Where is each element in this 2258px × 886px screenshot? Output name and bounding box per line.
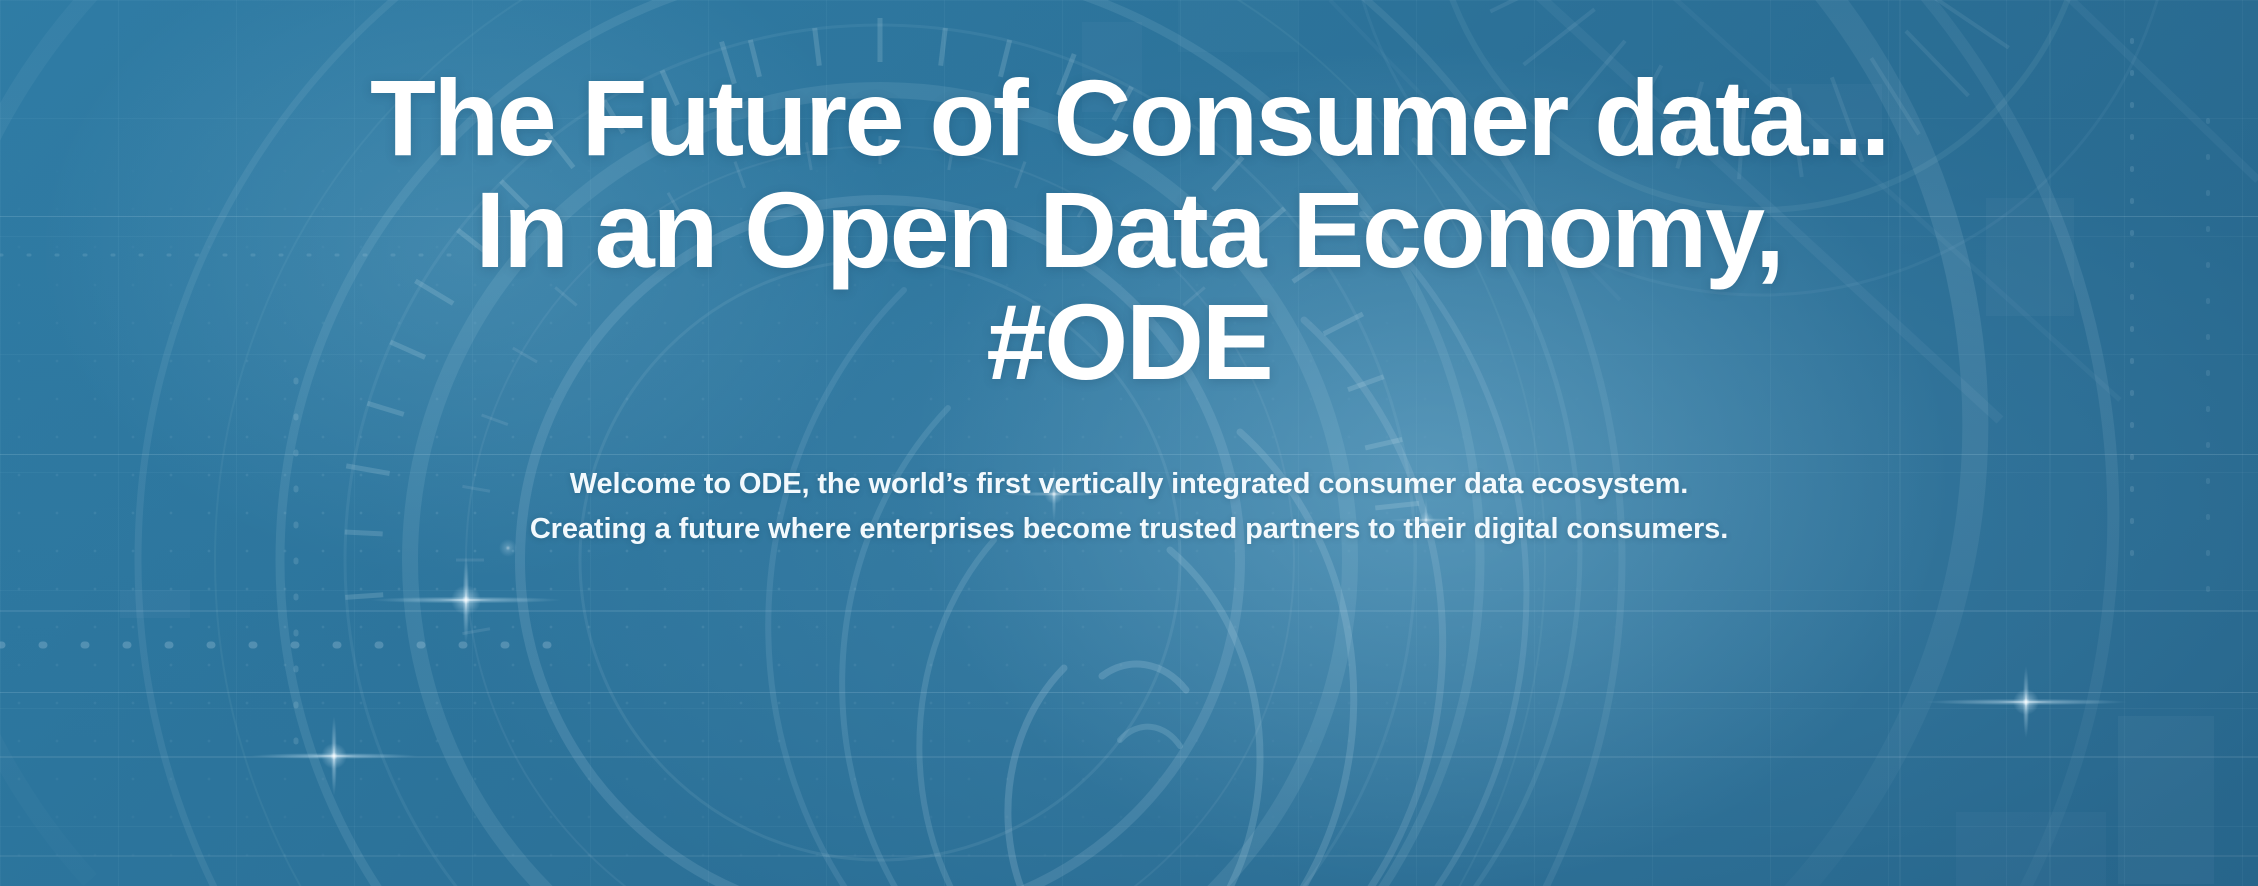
hero-content: The Future of Consumer data... In an Ope…: [0, 0, 2258, 552]
headline-line-1: The Future of Consumer data...: [24, 62, 2234, 174]
headline-line-3: #ODE: [24, 286, 2234, 398]
hero-subcopy: Welcome to ODE, the world’s first vertic…: [529, 462, 1729, 552]
headline-line-2: In an Open Data Economy,: [24, 174, 2234, 286]
hero-headline: The Future of Consumer data... In an Ope…: [0, 62, 2258, 398]
hero-banner: The Future of Consumer data... In an Ope…: [0, 0, 2258, 886]
